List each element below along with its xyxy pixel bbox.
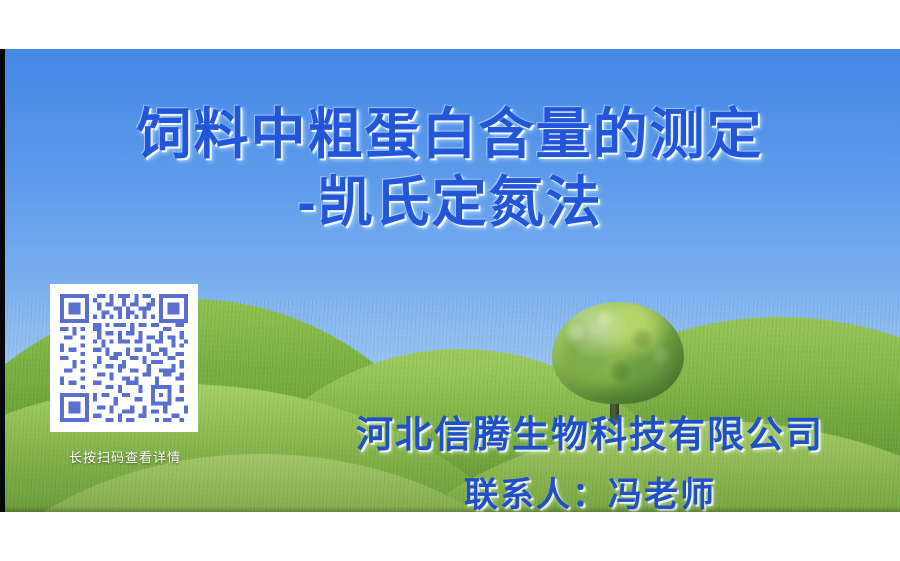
letterbox-left-edge	[0, 49, 5, 512]
page-root: 饲料中粗蛋白含量的测定 -凯氏定氮法	[0, 0, 900, 561]
video-stage[interactable]: 饲料中粗蛋白含量的测定 -凯氏定氮法	[0, 49, 900, 512]
tree-icon	[548, 302, 688, 427]
tree-foliage	[552, 302, 684, 404]
qr-code[interactable]	[50, 284, 198, 432]
stage-bottom-shadow	[0, 506, 900, 512]
qr-matrix-icon	[56, 290, 192, 426]
qr-caption: 长按扫码查看详情	[40, 447, 210, 466]
